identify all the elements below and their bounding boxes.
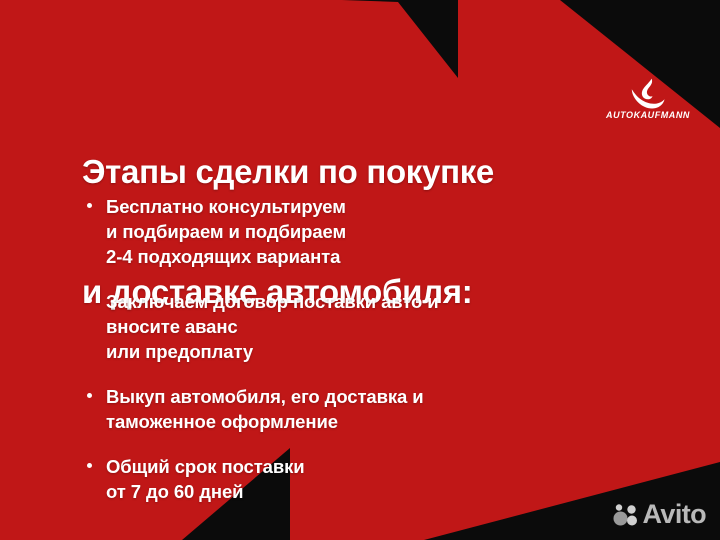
promo-banner: Этапы сделки по покупке и доставке автом…	[0, 0, 720, 540]
bullet-dot-icon	[87, 393, 92, 398]
steps-list: Бесплатно консультируем и подбираем и по…	[84, 194, 604, 504]
flame-horse-icon	[631, 78, 665, 109]
list-item-line: Бесплатно консультируем	[106, 194, 604, 219]
list-item-line: и подбираем и подбираем	[106, 219, 604, 244]
avito-wordmark: Avito	[643, 501, 707, 528]
list-item-line: или предоплату	[106, 339, 604, 364]
list-item-line: Заключаем договор поставки авто и	[106, 289, 604, 314]
list-item-line: Выкуп автомобиля, его доставка и	[106, 384, 604, 409]
bullet-dot-icon	[87, 463, 92, 468]
bullet-dot-icon	[87, 298, 92, 303]
page-title-line-1: Этапы сделки по покупке	[82, 152, 612, 192]
list-item-line: таможенное оформление	[106, 409, 604, 434]
brand-wordmark: AUTOKAUFMANN	[606, 110, 690, 121]
brand-logo: AUTOKAUFMANN	[596, 78, 700, 121]
list-item-line: от 7 до 60 дней	[106, 479, 604, 504]
list-item: Выкуп автомобиля, его доставка и таможен…	[84, 384, 604, 434]
list-item-line: Общий срок поставки	[106, 454, 604, 479]
list-item-line: 2-4 подходящих варианта	[106, 244, 604, 269]
list-item: Заключаем договор поставки авто и вносит…	[84, 289, 604, 364]
list-item: Общий срок поставки от 7 до 60 дней	[84, 454, 604, 504]
avito-dots-icon	[613, 503, 639, 527]
bullet-dot-icon	[87, 203, 92, 208]
list-item-line: вносите аванс	[106, 314, 604, 339]
avito-watermark: Avito	[613, 501, 707, 528]
list-item: Бесплатно консультируем и подбираем и по…	[84, 194, 604, 269]
